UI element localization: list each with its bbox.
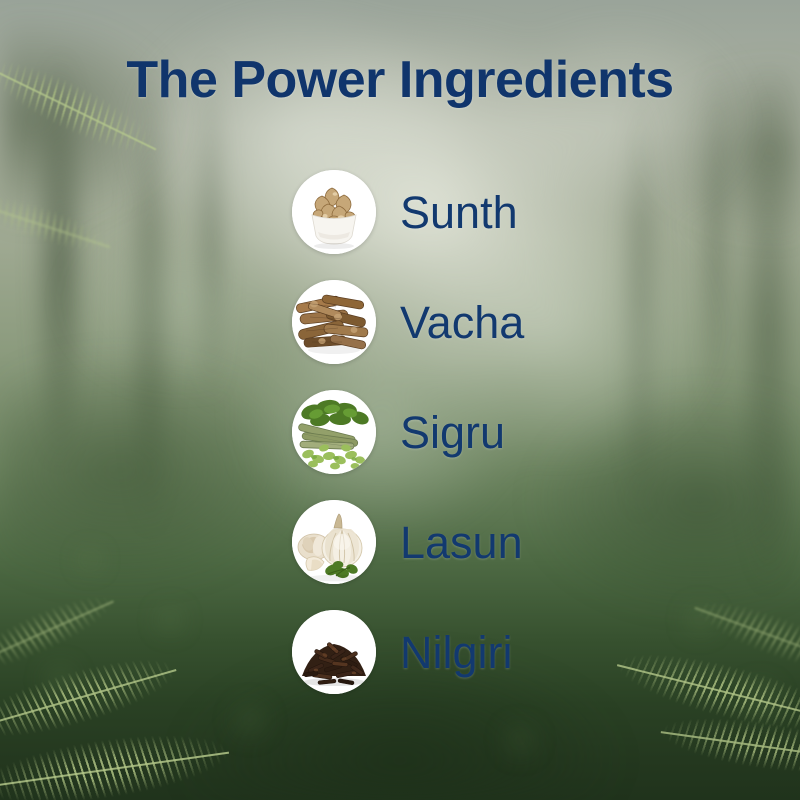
ingredients-poster: The Power Ingredients [0, 0, 800, 800]
dried-tea-leaves-image [292, 610, 376, 694]
drumstick-pods-moringa-icon [292, 390, 376, 474]
ingredient-label: Sunth [400, 190, 518, 235]
ingredient-label: Lasun [400, 520, 523, 565]
list-item: Lasun [292, 500, 712, 584]
ingredient-list: Sunth [292, 170, 712, 720]
ingredient-label: Nilgiri [400, 630, 513, 675]
list-item: Vacha [292, 280, 712, 364]
list-item: Nilgiri [292, 610, 712, 694]
list-item: Sigru [292, 390, 712, 474]
dried-ginger-bowl-image [292, 170, 376, 254]
garlic-bulbs-icon [292, 500, 376, 584]
dried-tea-leaves-icon [292, 610, 376, 694]
page-title: The Power Ingredients [0, 52, 800, 108]
ingredient-label: Sigru [400, 410, 505, 455]
ingredient-label: Vacha [400, 300, 524, 345]
garlic-bulbs-image [292, 500, 376, 584]
dried-root-sticks-icon [292, 280, 376, 364]
dried-root-sticks-image [292, 280, 376, 364]
drumstick-pods-moringa-leaves-image [292, 390, 376, 474]
dried-ginger-bowl-icon [292, 170, 376, 254]
list-item: Sunth [292, 170, 712, 254]
